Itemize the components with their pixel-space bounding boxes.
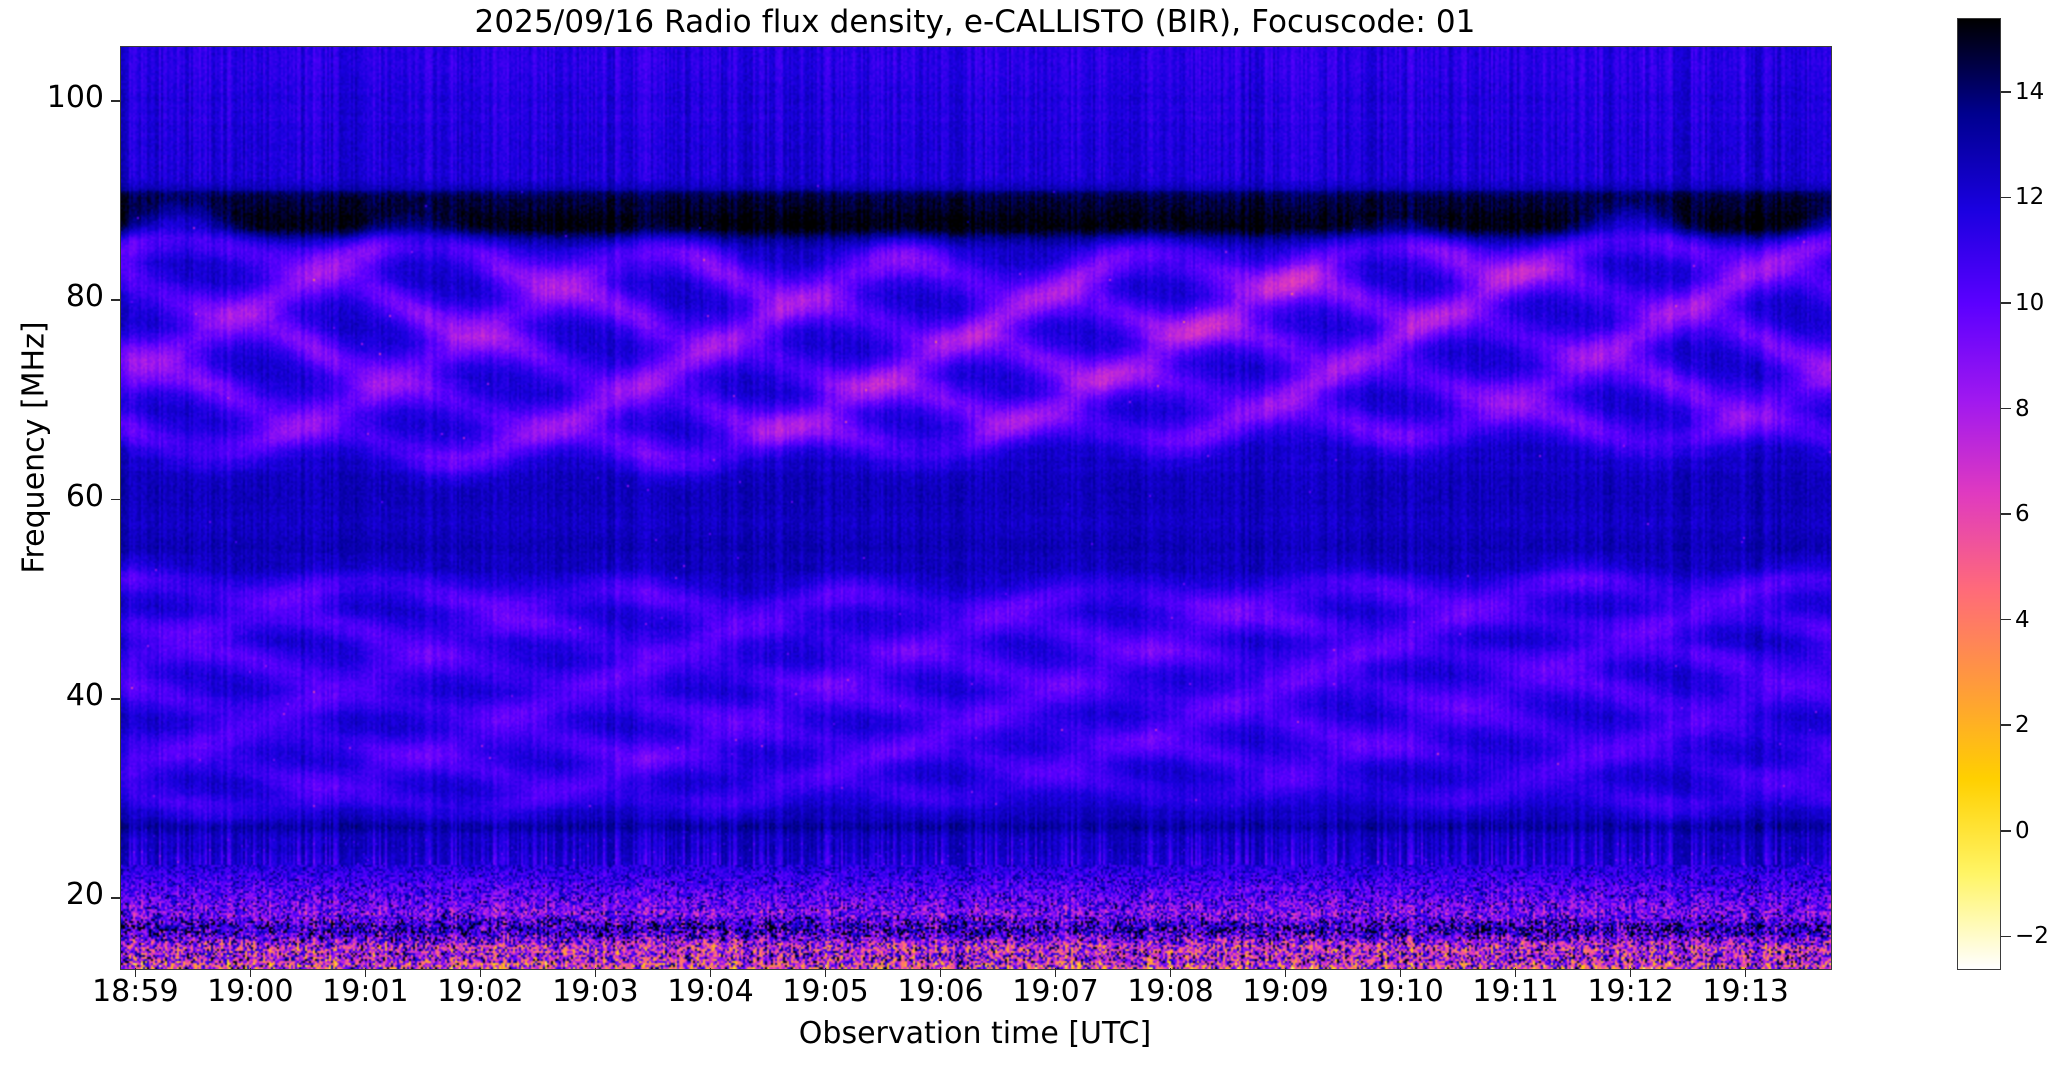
colorbar-tick-mark	[2001, 408, 2011, 410]
colorbar-tick-label: 14	[2015, 79, 2044, 105]
figure-title: 2025/09/16 Radio flux density, e-CALLIST…	[120, 4, 1830, 40]
colorbar-tick-mark	[2001, 197, 2011, 199]
x-tick-label: 19:05	[782, 974, 868, 1009]
colorbar-tick-label: 8	[2015, 396, 2030, 422]
x-tick-label: 19:12	[1587, 974, 1673, 1009]
x-tick-label: 19:08	[1127, 974, 1213, 1009]
y-tick-mark	[111, 499, 120, 501]
x-tick-label: 19:09	[1242, 974, 1328, 1009]
y-tick-label: 100	[0, 80, 104, 115]
x-tick-label: 19:11	[1472, 974, 1558, 1009]
x-axis-label: Observation time [UTC]	[120, 1016, 1830, 1051]
y-tick-label: 40	[0, 678, 104, 713]
colorbar-tick-label: 4	[2015, 607, 2030, 633]
colorbar-tick-mark	[2001, 302, 2011, 304]
x-tick-label: 19:04	[667, 974, 753, 1009]
colorbar-tick-label: 2	[2015, 712, 2030, 738]
y-tick-mark	[111, 897, 120, 899]
x-tick-label: 19:01	[322, 974, 408, 1009]
colorbar-tick-mark	[2001, 936, 2011, 938]
colorbar-tick-mark	[2001, 91, 2011, 93]
spectrogram-image	[121, 47, 1831, 969]
y-tick-mark	[111, 299, 120, 301]
x-tick-label: 19:07	[1012, 974, 1098, 1009]
x-tick-label: 19:02	[437, 974, 523, 1009]
x-tick-label: 19:13	[1702, 974, 1788, 1009]
y-tick-mark	[111, 698, 120, 700]
colorbar-tick-label: 10	[2015, 290, 2044, 316]
colorbar-tick-mark	[2001, 513, 2011, 515]
x-tick-label: 19:03	[552, 974, 638, 1009]
y-tick-mark	[111, 100, 120, 102]
colorbar-tick-mark	[2001, 724, 2011, 726]
colorbar-gradient	[1958, 19, 2000, 969]
colorbar-tick-label: 6	[2015, 501, 2030, 527]
x-tick-label: 19:00	[207, 974, 293, 1009]
colorbar-tick-label: −2	[2015, 923, 2049, 949]
colorbar-tick-mark	[2001, 619, 2011, 621]
colorbar-tick-mark	[2001, 830, 2011, 832]
spectrogram-figure: 2025/09/16 Radio flux density, e-CALLIST…	[0, 0, 2066, 1067]
spectrogram-plot-area[interactable]	[120, 46, 1832, 970]
colorbar-tick-label: 12	[2015, 184, 2044, 210]
y-tick-label: 60	[0, 479, 104, 514]
y-axis-label: Frequency [MHz]	[17, 0, 52, 908]
colorbar-tick-label: 0	[2015, 818, 2030, 844]
y-tick-label: 20	[0, 877, 104, 912]
x-tick-label: 18:59	[92, 974, 178, 1009]
colorbar[interactable]	[1957, 18, 2001, 970]
y-tick-label: 80	[0, 279, 104, 314]
x-tick-label: 19:10	[1357, 974, 1443, 1009]
x-tick-label: 19:06	[897, 974, 983, 1009]
